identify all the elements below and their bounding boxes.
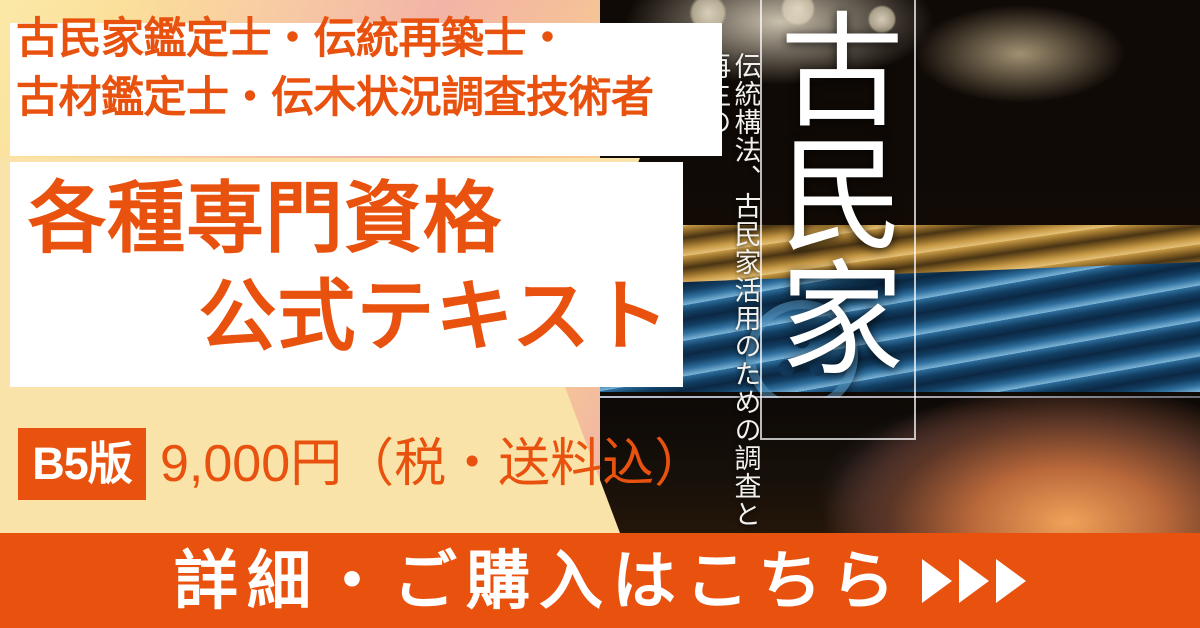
cover-title: 古民家 [770,6,910,378]
format-badge: B5版 [18,428,146,500]
price-label: 9,000円（税・送料込） [160,428,706,500]
triangle-right-icon [959,559,989,603]
certifications-line-1: 古民家鑑定士・伝統再築士・ [16,9,706,70]
cta-label: 詳細・ご購入はこちら [174,549,904,613]
triangle-right-icon [922,559,952,603]
cta-arrows [922,559,1026,603]
headline-line-1: 各種専門資格 [10,170,678,268]
triangle-right-icon [996,559,1026,603]
cta-bar[interactable]: 詳細・ご購入はこちら [0,533,1200,628]
headline: 各種専門資格 公式テキスト [10,170,678,365]
promo-banner: 古民家 伝統構法、古民家活用のための調査と再生の 古民家鑑定士・伝統再築士・ 古… [0,0,1200,628]
certifications-line-2: 古材鑑定士・伝木状況調査技術者 [16,68,706,129]
headline-line-2: 公式テキスト [10,268,678,366]
